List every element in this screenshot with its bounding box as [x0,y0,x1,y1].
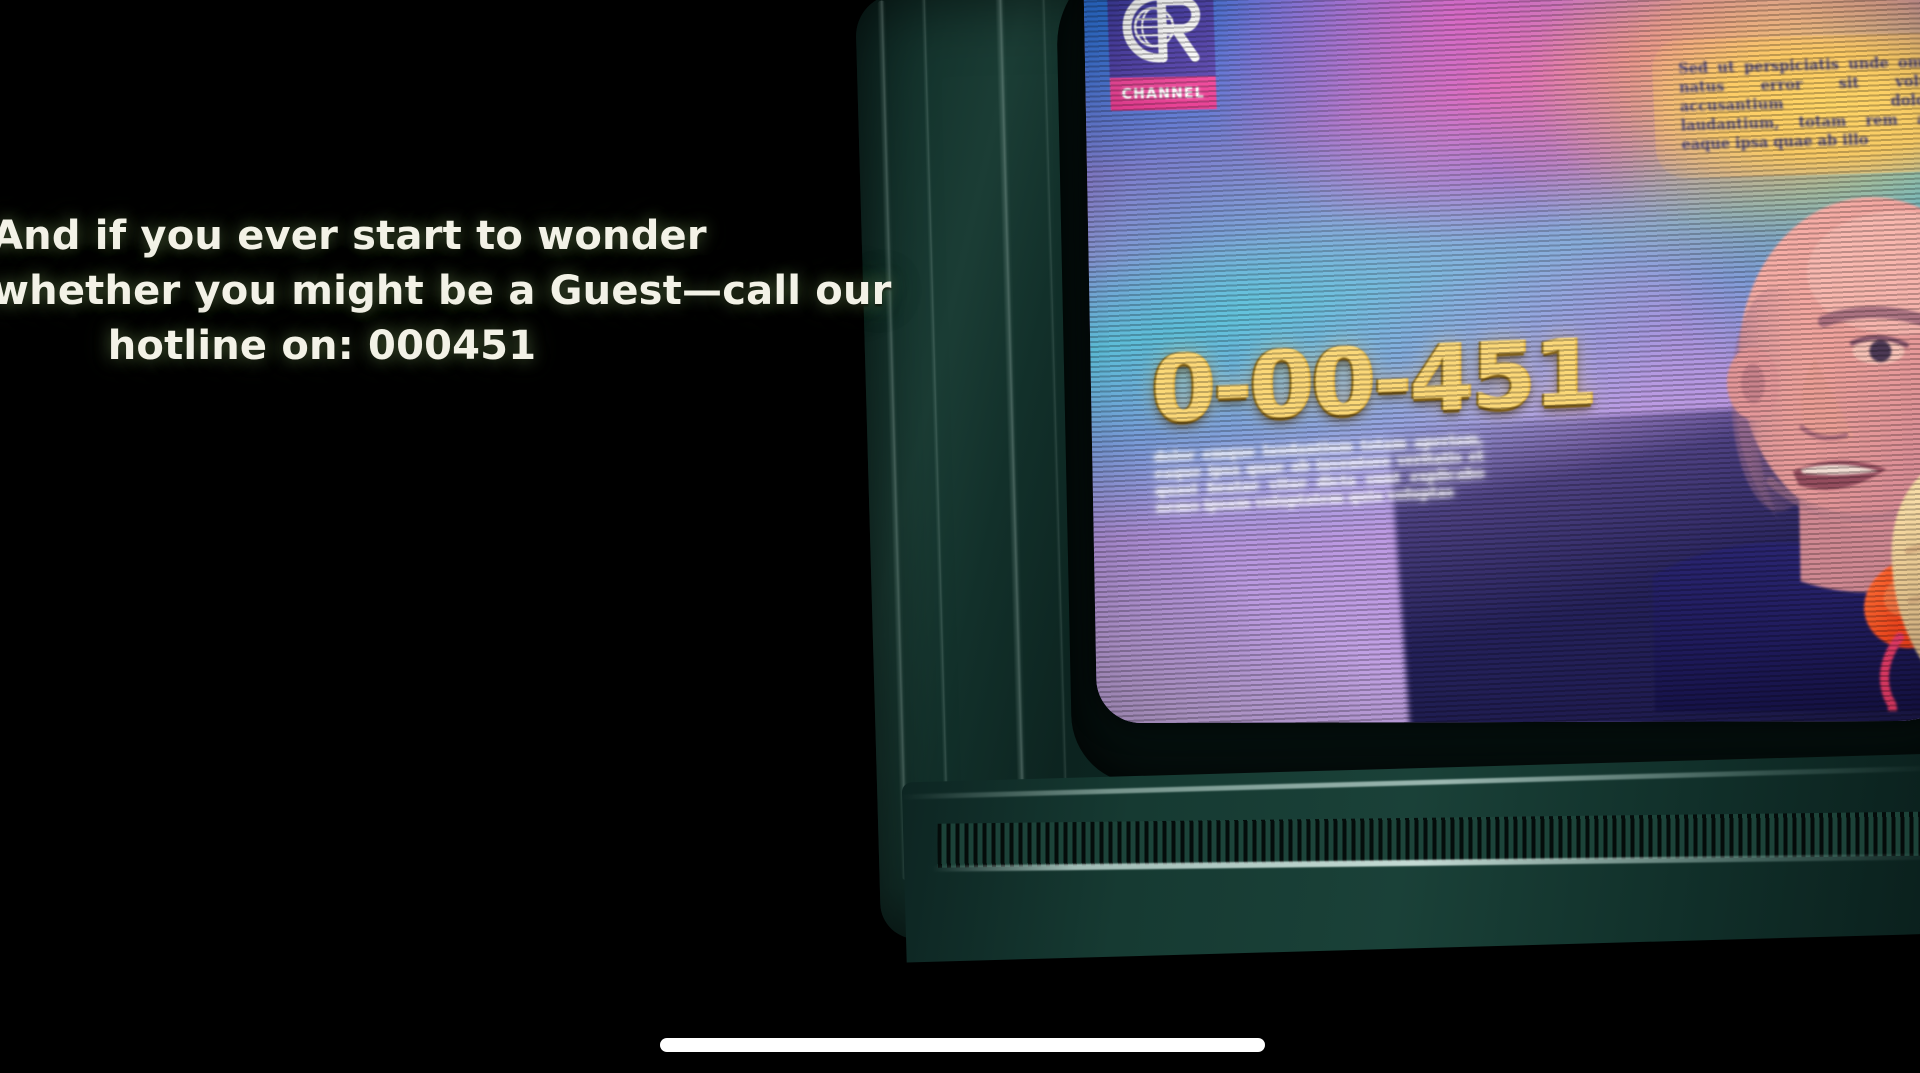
channel-logo-badge: CHANNEL [1110,76,1217,111]
cabinet-ridge-highlight [877,0,911,880]
channel-logo-badge-label: CHANNEL [1121,85,1205,102]
cabinet-ridge-highlight [921,0,952,885]
caption-line-1: And if you ever start to wonder [0,212,652,260]
channel-logo-plate [1107,0,1216,78]
channel-logo: CHANNEL [1107,0,1217,111]
subtitle-caption: And if you ever start to wonder whether … [0,212,652,370]
crt-television: CHANNEL Sed ut perspiciatis unde omnis i… [868,0,1920,946]
yellow-note-text: Sed ut perspiciatis unde omnis iste natu… [1678,51,1920,154]
caption-line-3: hotline on: 000451 [0,322,652,370]
caller-on-phone-illustration [1645,151,1920,712]
on-screen-hotline-number: 0-00-451 [1151,327,1595,437]
video-player-frame: And if you ever start to wonder whether … [0,0,1920,1073]
tv-screen: CHANNEL Sed ut perspiciatis unde omnis i… [1083,0,1920,723]
tv-base [902,754,1920,963]
cr-monogram-icon [1117,0,1205,67]
home-indicator-bar[interactable] [660,1038,1265,1052]
cabinet-ridge-highlight [995,0,1030,896]
caption-line-2: whether you might be a Guest—call our [0,267,652,315]
